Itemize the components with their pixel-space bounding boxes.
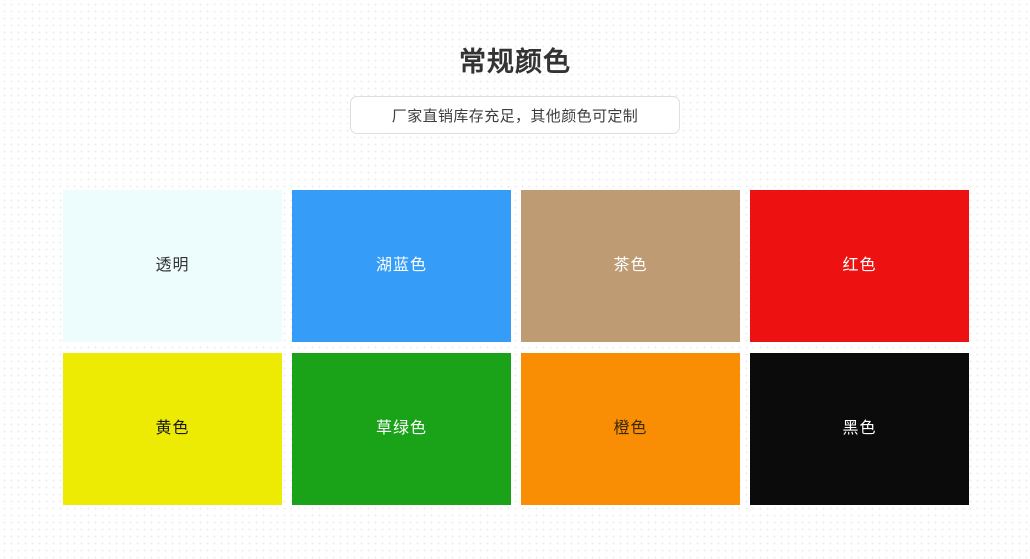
color-swatch-label: 湖蓝色: [376, 256, 427, 276]
color-swatch[interactable]: 湖蓝色: [292, 190, 511, 342]
color-swatch[interactable]: 黄色: [63, 353, 282, 505]
page-header: 常规颜色 厂家直销库存充足，其他颜色可定制: [0, 0, 1030, 134]
color-swatch[interactable]: 透明: [63, 190, 282, 342]
color-swatch-label: 透明: [155, 256, 189, 276]
color-swatch-label: 黑色: [842, 419, 876, 439]
subtitle-container: 厂家直销库存充足，其他颜色可定制: [0, 96, 1030, 134]
color-swatch[interactable]: 橙色: [521, 353, 740, 505]
color-swatch[interactable]: 红色: [750, 190, 969, 342]
color-swatch[interactable]: 草绿色: [292, 353, 511, 505]
color-swatch-label: 草绿色: [376, 419, 427, 439]
color-palette-page: 常规颜色 厂家直销库存充足，其他颜色可定制 透明湖蓝色茶色红色黄色草绿色橙色黑色: [0, 0, 1030, 559]
subtitle-badge: 厂家直销库存充足，其他颜色可定制: [350, 96, 680, 134]
page-title: 常规颜色: [0, 45, 1030, 79]
color-swatch-label: 茶色: [613, 256, 647, 276]
color-swatch-label: 橙色: [613, 419, 647, 439]
color-swatch-label: 黄色: [155, 419, 189, 439]
color-swatch-label: 红色: [842, 256, 876, 276]
color-swatch[interactable]: 黑色: [750, 353, 969, 505]
color-swatch[interactable]: 茶色: [521, 190, 740, 342]
color-swatch-grid: 透明湖蓝色茶色红色黄色草绿色橙色黑色: [63, 190, 967, 505]
